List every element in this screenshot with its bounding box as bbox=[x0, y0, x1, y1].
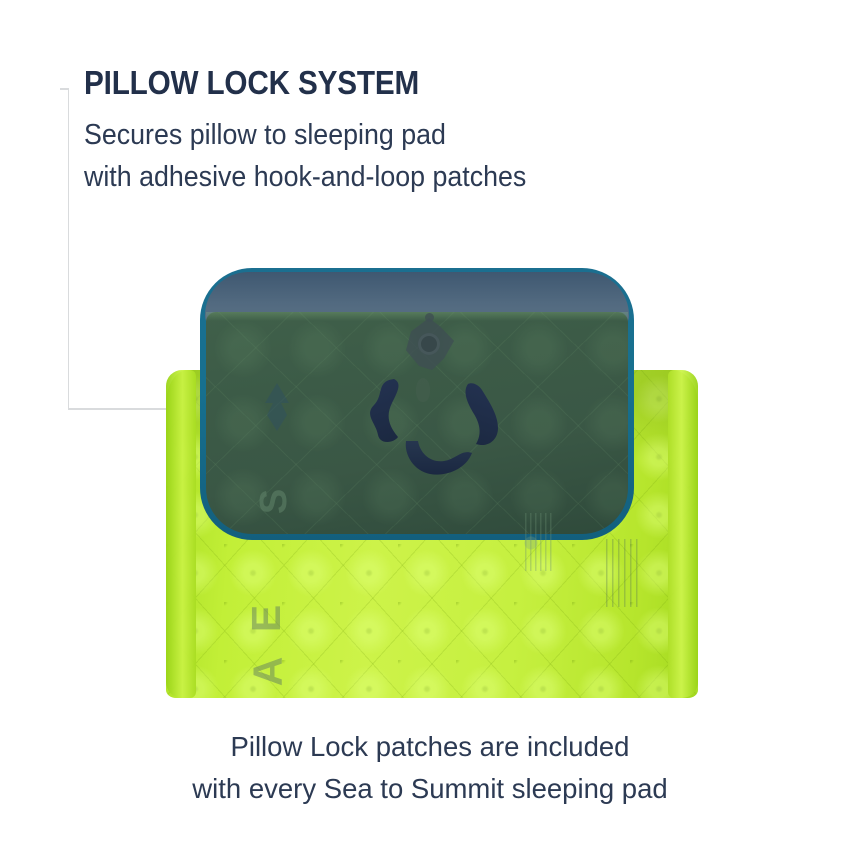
callout-subline-1: Secures pillow to sleeping pad bbox=[84, 118, 446, 152]
callout-bracket-vertical bbox=[68, 88, 70, 410]
caption-line-1: Pillow Lock patches are included bbox=[0, 730, 860, 763]
valve-ring bbox=[418, 333, 440, 355]
pad-fineprint-text bbox=[606, 539, 640, 607]
pad-side-rail-right bbox=[668, 370, 698, 698]
callout-subline-2: with adhesive hook-and-loop patches bbox=[84, 160, 526, 194]
page-title: PILLOW LOCK SYSTEM bbox=[84, 64, 419, 102]
caption-line-2: with every Sea to Summit sleeping pad bbox=[0, 772, 860, 805]
pad-brand-letter-e: E bbox=[243, 605, 290, 632]
pad-side-rail-left bbox=[166, 370, 196, 698]
pad-brand-letter-a: A bbox=[244, 657, 291, 687]
multi-function-valve-icon bbox=[404, 318, 454, 370]
pillow-brand-mark-icon bbox=[519, 531, 543, 555]
sea-to-summit-mountain-logo-icon bbox=[256, 382, 298, 432]
infographic-canvas: PILLOW LOCK SYSTEM Secures pillow to sle… bbox=[0, 0, 860, 860]
valve-cap-tab bbox=[425, 313, 434, 322]
valve-shadow-mark bbox=[416, 378, 430, 402]
pillow-brand-letter-s: S bbox=[253, 489, 296, 514]
